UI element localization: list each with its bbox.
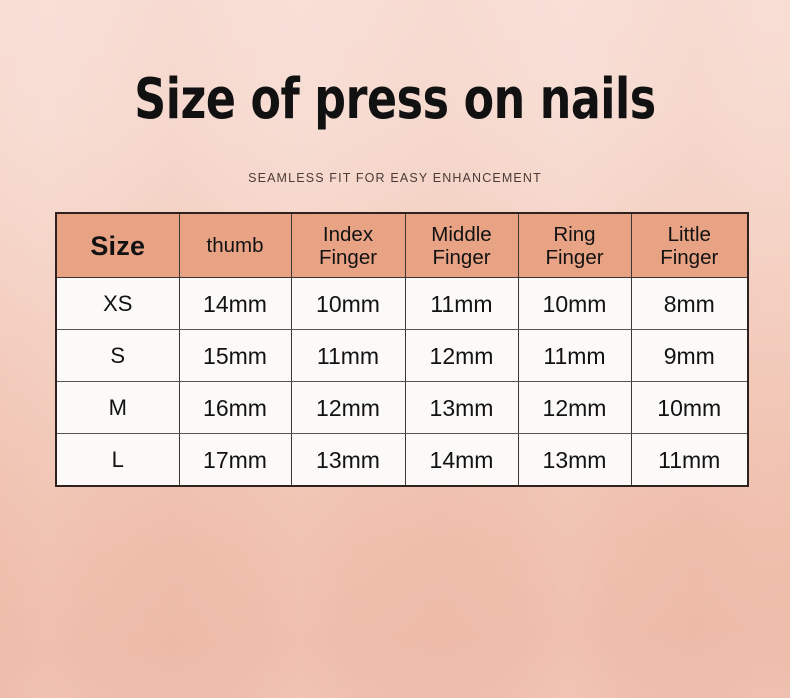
cell-ring: 11mm bbox=[518, 330, 631, 382]
cell-little: 8mm bbox=[631, 278, 747, 330]
size-table-header: Size thumb Index Finger Middle Finger Ri bbox=[57, 214, 747, 278]
column-header-little-finger: Little Finger bbox=[631, 214, 747, 278]
table-row: S 15mm 11mm 12mm 11mm 9mm bbox=[57, 330, 747, 382]
column-header-middle-line2: Finger bbox=[406, 246, 518, 269]
cell-middle: 11mm bbox=[405, 278, 518, 330]
cell-thumb: 16mm bbox=[179, 382, 291, 434]
cell-little: 10mm bbox=[631, 382, 747, 434]
column-header-middle-finger: Middle Finger bbox=[405, 214, 518, 278]
column-header-thumb-line1: thumb bbox=[180, 234, 291, 257]
cell-index: 10mm bbox=[291, 278, 405, 330]
table-row: L 17mm 13mm 14mm 13mm 11mm bbox=[57, 434, 747, 486]
cell-thumb: 15mm bbox=[179, 330, 291, 382]
column-header-size-line1: Size bbox=[57, 231, 179, 261]
page-title: Size of press on nails bbox=[47, 68, 742, 132]
cell-thumb: 14mm bbox=[179, 278, 291, 330]
cell-size: XS bbox=[57, 278, 179, 330]
column-header-thumb: thumb bbox=[179, 214, 291, 278]
column-header-size: Size bbox=[57, 214, 179, 278]
size-chart-poster: Size of press on nails SEAMLESS FIT FOR … bbox=[0, 0, 790, 698]
cell-little: 11mm bbox=[631, 434, 747, 486]
cell-ring: 12mm bbox=[518, 382, 631, 434]
cell-thumb: 17mm bbox=[179, 434, 291, 486]
page-subtitle: SEAMLESS FIT FOR EASY ENHANCEMENT bbox=[0, 170, 790, 186]
column-header-little-line2: Finger bbox=[632, 246, 748, 269]
cell-little: 9mm bbox=[631, 330, 747, 382]
cell-index: 12mm bbox=[291, 382, 405, 434]
column-header-middle-line1: Middle bbox=[406, 223, 518, 246]
cell-ring: 13mm bbox=[518, 434, 631, 486]
cell-index: 13mm bbox=[291, 434, 405, 486]
cell-size: L bbox=[57, 434, 179, 486]
size-table-container: Size thumb Index Finger Middle Finger Ri bbox=[55, 212, 749, 487]
table-row: XS 14mm 10mm 11mm 10mm 8mm bbox=[57, 278, 747, 330]
cell-size: M bbox=[57, 382, 179, 434]
cell-middle: 13mm bbox=[405, 382, 518, 434]
cell-middle: 14mm bbox=[405, 434, 518, 486]
size-table-body: XS 14mm 10mm 11mm 10mm 8mm S 15mm 11mm 1… bbox=[57, 278, 747, 486]
table-header-row: Size thumb Index Finger Middle Finger Ri bbox=[57, 214, 747, 278]
column-header-ring-line1: Ring bbox=[519, 223, 631, 246]
column-header-index-finger: Index Finger bbox=[291, 214, 405, 278]
column-header-index-line2: Finger bbox=[292, 246, 405, 269]
size-table: Size thumb Index Finger Middle Finger Ri bbox=[57, 214, 747, 485]
cell-size: S bbox=[57, 330, 179, 382]
cell-middle: 12mm bbox=[405, 330, 518, 382]
column-header-ring-line2: Finger bbox=[519, 246, 631, 269]
column-header-ring-finger: Ring Finger bbox=[518, 214, 631, 278]
column-header-index-line1: Index bbox=[292, 223, 405, 246]
cell-ring: 10mm bbox=[518, 278, 631, 330]
table-row: M 16mm 12mm 13mm 12mm 10mm bbox=[57, 382, 747, 434]
column-header-little-line1: Little bbox=[632, 223, 748, 246]
cell-index: 11mm bbox=[291, 330, 405, 382]
